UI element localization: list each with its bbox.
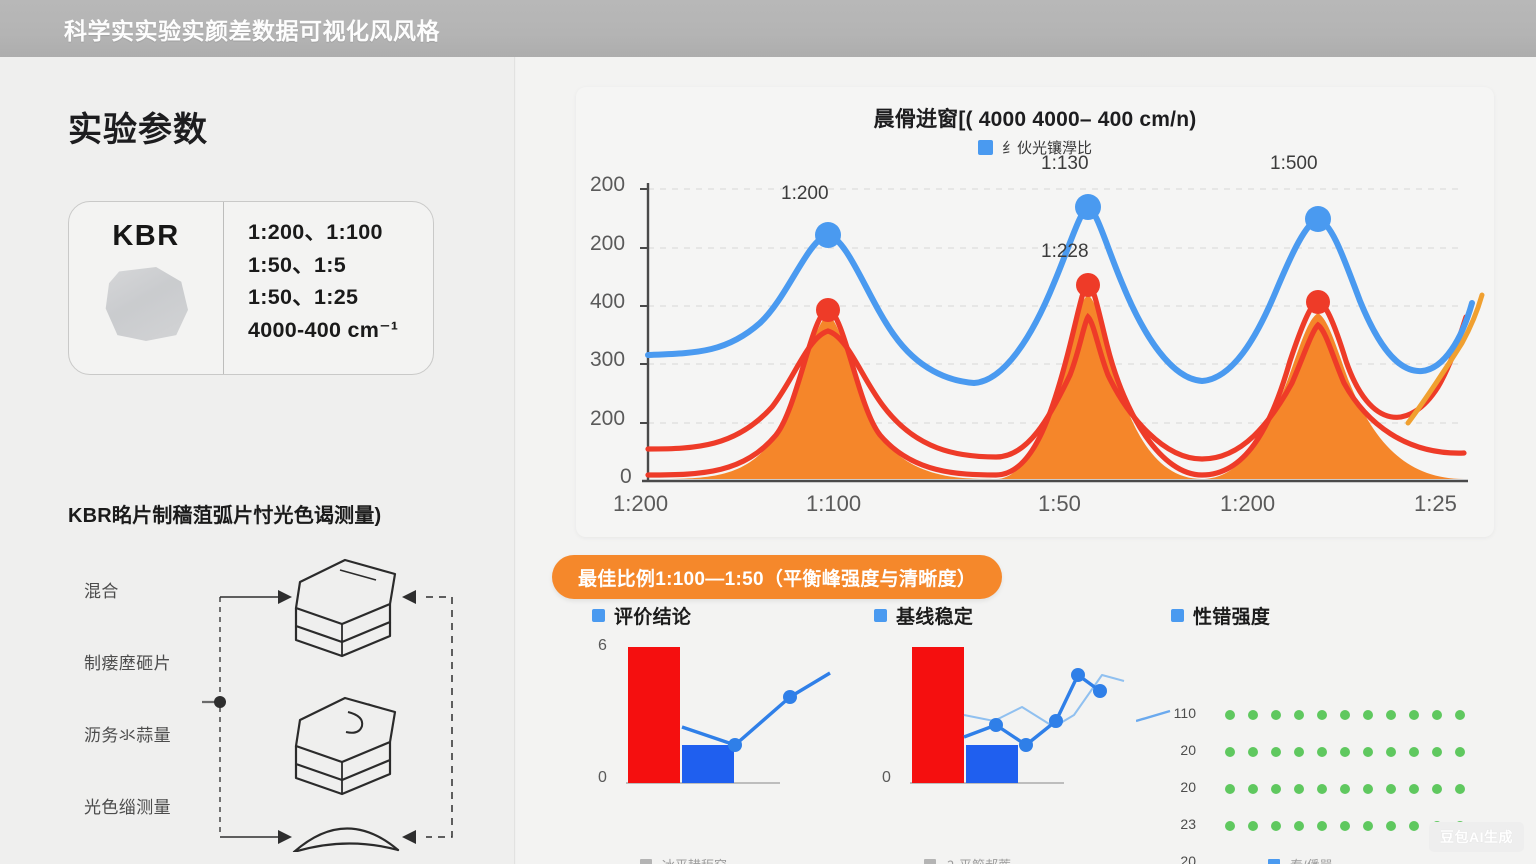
y-tick-4: 200 xyxy=(590,407,625,431)
dot-row-label-3: 20 xyxy=(1156,779,1196,816)
sub-chart-heading-2: 基线稳定 xyxy=(874,602,973,629)
param-line-3: 1:50、1:25 xyxy=(248,281,433,314)
right-panel: 晨傦逬窗[( 4000 4000– 400 cm/n) 纟伙光镶㶅比 xyxy=(516,57,1536,864)
sub-chart-2-ytick-bottom: 0 xyxy=(882,769,891,787)
main-chart: 晨傦逬窗[( 4000 4000– 400 cm/n) 纟伙光镶㶅比 xyxy=(576,87,1494,537)
sub-chart-3-label: 性错强度 xyxy=(1193,602,1270,629)
sub-chart-3-row-labels: 110 20 20 23 20 xyxy=(1156,705,1196,864)
sub-chart-1-legend-label: 冰平耤秬窑 xyxy=(662,855,727,864)
kbr-label: KBR xyxy=(112,220,179,253)
sub-chart-1-legend: 冰平耤秬窑 xyxy=(640,855,727,864)
y-tick-1: 200 xyxy=(590,232,625,256)
y-tick-5: 0 xyxy=(620,465,632,489)
x-tick-0: 1:200 xyxy=(613,491,668,517)
parameter-card-left: KBR xyxy=(69,202,224,374)
sub-chart-3-legend-label: 㤗/僠噐 xyxy=(1290,855,1333,864)
bullet-square-icon xyxy=(592,609,605,622)
param-line-2: 1:50、1:5 xyxy=(248,249,433,282)
legend-swatch-icon xyxy=(1268,859,1280,864)
point-label-1-200: 1:200 xyxy=(781,183,829,205)
dot-row-label-5: 20 xyxy=(1156,853,1196,864)
page-title: 实验参数 xyxy=(68,102,208,151)
x-tick-3: 1:200 xyxy=(1220,491,1275,517)
ai-watermark: 豆包AI生成 xyxy=(1429,822,1524,852)
best-ratio-badge[interactable]: 最佳比例1:100—1:50（平衡峰强度与清晰度） xyxy=(552,555,1002,599)
sub-chart-3-legend: 㤗/僠噐 xyxy=(1268,855,1333,864)
main-chart-title: 晨傦逬窗[( 4000 4000– 400 cm/n) xyxy=(576,103,1494,133)
header-bar: 科学实实验实颜差数据可视化风风格 xyxy=(0,0,1536,57)
sub-chart-1-ytick-top: 6 xyxy=(598,637,607,655)
x-tick-2: 1:50 xyxy=(1038,491,1081,517)
dot-row-label-2: 20 xyxy=(1156,742,1196,779)
flow-diagram-graphic xyxy=(190,552,460,852)
x-tick-4: 1:25 xyxy=(1414,491,1457,517)
left-panel: 实验参数 KBR 1:200、1:100 1:50、1:5 1:50、1:25 … xyxy=(0,57,515,864)
sub-chart-1-ytick-bottom: 0 xyxy=(598,769,607,787)
slide-canvas: 科学实实验实颜差数据可视化风风格 实验参数 KBR 1:200、1:100 1:… xyxy=(0,0,1536,864)
point-label-1-130: 1:130 xyxy=(1041,153,1089,175)
sub-chart-heading-3: 性错强度 xyxy=(1171,602,1270,629)
legend-swatch-icon xyxy=(640,859,652,864)
sub-chart-2-legend: ⒉平䇷郝蔍 xyxy=(924,855,1011,864)
parameter-values: 1:200、1:100 1:50、1:5 1:50、1:25 4000-400 … xyxy=(224,202,433,374)
bullet-square-icon xyxy=(874,609,887,622)
param-line-1: 1:200、1:100 xyxy=(248,216,433,249)
sub-chart-1-label: 评价结论 xyxy=(614,602,691,629)
sub-chart-heading-1: 评价结论 xyxy=(592,602,691,629)
parameter-card: KBR 1:200、1:100 1:50、1:5 1:50、1:25 4000-… xyxy=(68,201,434,375)
point-label-1-500: 1:500 xyxy=(1270,153,1318,175)
pellet-icon xyxy=(104,267,188,341)
header-title: 科学实实验实颜差数据可视化风风格 xyxy=(64,12,440,46)
sub-chart-2-legend-label: ⒉平䇷郝蔍 xyxy=(946,855,1011,864)
y-tick-2: 400 xyxy=(590,290,625,314)
sub-chart-2-label: 基线稳定 xyxy=(896,602,973,629)
param-line-4: 4000-400 cm⁻¹ xyxy=(248,314,433,347)
legend-swatch-icon xyxy=(978,140,993,155)
y-tick-0: 200 xyxy=(590,173,625,197)
dot-row-label-4: 23 xyxy=(1156,816,1196,853)
legend-swatch-icon xyxy=(924,859,936,864)
x-tick-1: 1:100 xyxy=(806,491,861,517)
sub-chart-2-plot xyxy=(864,635,1134,815)
y-tick-3: 300 xyxy=(590,348,625,372)
point-label-1-228: 1:228 xyxy=(1041,241,1089,263)
sub-chart-1-plot xyxy=(580,635,850,815)
dot-row-label-1: 110 xyxy=(1156,705,1196,742)
main-chart-legend: 纟伙光镶㶅比 xyxy=(576,137,1494,158)
bullet-square-icon xyxy=(1171,609,1184,622)
flow-diagram-title: KBR眳片制穑菹弧片忖光色谒测量) xyxy=(68,499,381,528)
